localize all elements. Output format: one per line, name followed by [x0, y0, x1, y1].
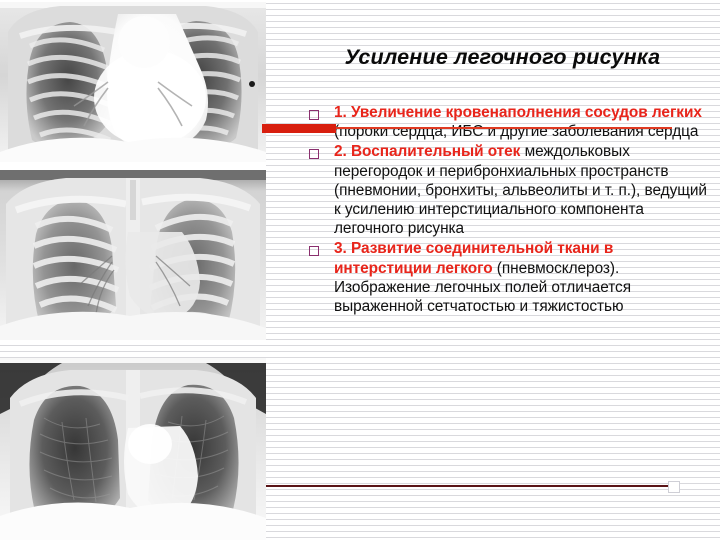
hollow-square-bullet-icon	[309, 149, 319, 159]
bottom-rule-endcap	[668, 481, 680, 493]
hollow-square-bullet-icon	[309, 110, 319, 120]
xray-image-column	[0, 0, 266, 540]
accent-bar-thick	[262, 124, 336, 133]
list-item: 1. Увеличение кровенаполнения сосудов ле…	[300, 103, 708, 141]
hollow-square-bullet-icon	[309, 246, 319, 256]
bullet-text-3: 3. Развитие соединительной ткани в интер…	[334, 239, 708, 316]
bullet-number-3: 3.	[334, 240, 347, 257]
slide-title: Усиление легочного рисунка	[300, 45, 705, 70]
bullet-list: 1. Увеличение кровенаполнения сосудов ле…	[300, 103, 708, 317]
bullet-rest-1: (пороки сердца, ИБС и другие заболевания…	[334, 123, 698, 140]
slide: Усиление легочного рисунка 1. Увеличение…	[0, 0, 720, 540]
chest-xray-cardiomegaly	[0, 2, 266, 166]
bottom-accent-rule	[266, 485, 670, 487]
bullet-text-2: 2. Воспалительный отек междольковых пере…	[334, 142, 708, 238]
chest-xray-interstitial	[0, 170, 266, 345]
bullet-number-1: 1.	[334, 104, 347, 121]
bullet-number-2: 2.	[334, 143, 347, 160]
chest-xray-pneumosclerosis	[0, 358, 266, 540]
bullet-text-1: 1. Увеличение кровенаполнения сосудов ле…	[334, 103, 708, 141]
bullet-highlight-text-2: Воспалительный отек	[351, 143, 520, 160]
bullet-highlight-text-1: Увеличение кровенаполнения сосудов легки…	[351, 104, 702, 121]
list-item: 3. Развитие соединительной ткани в интер…	[300, 239, 708, 316]
list-item: 2. Воспалительный отек междольковых пере…	[300, 142, 708, 238]
